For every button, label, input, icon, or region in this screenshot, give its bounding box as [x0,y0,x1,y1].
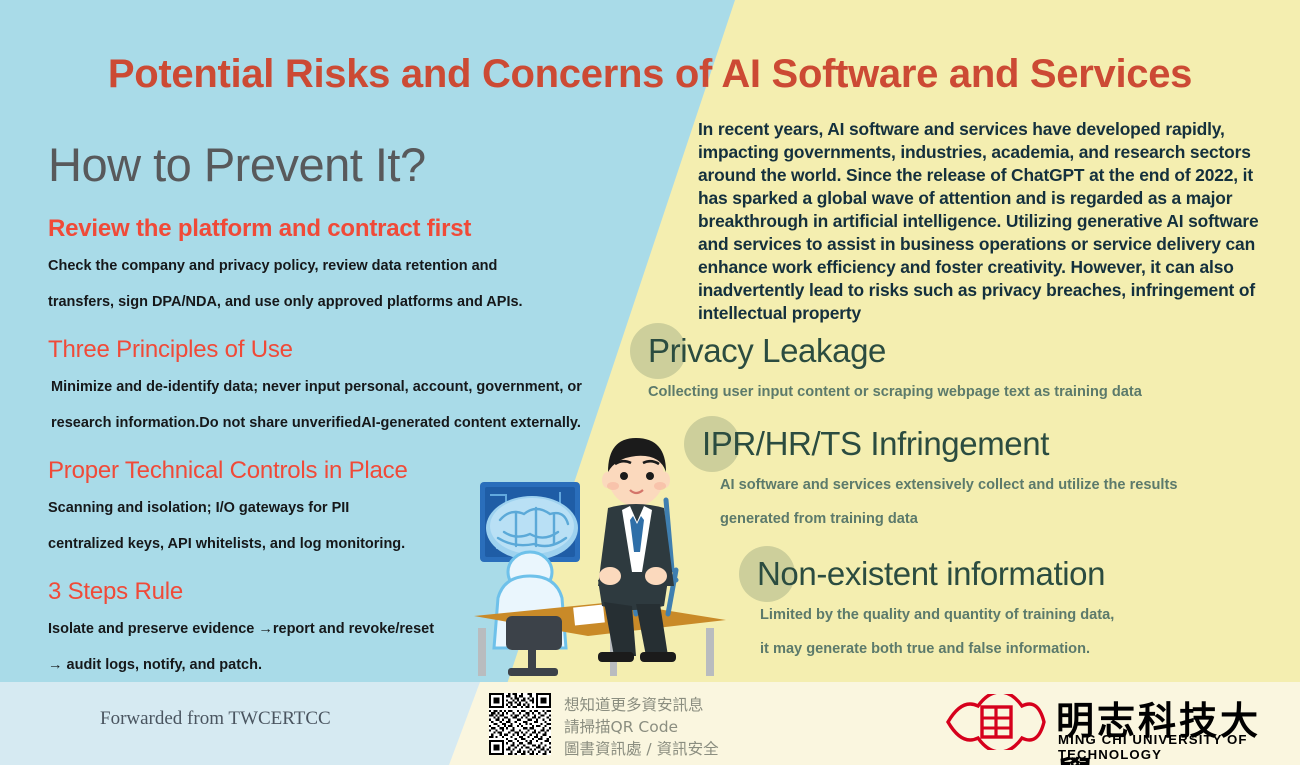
intro-paragraph: In recent years, AI software and service… [698,118,1283,325]
risk-title: Non-existent information [757,555,1105,592]
university-logo: 明志科技大學 MING CHI UNIVERSITY OF TECHNOLOGY [944,694,1284,749]
risk-description-line: generated from training data [720,503,1177,537]
ai-interview-illustration [470,420,730,685]
risk-item-non-existent-information: Non-existent information Limited by the … [757,555,1114,666]
risk-title: Privacy Leakage [648,332,886,369]
risk-item-privacy-leakage: Privacy Leakage Collecting user input co… [648,332,1142,410]
qr-caption-line: 請掃描QR Code [564,716,719,738]
risk-item-ipr-hr-ts-infringement: IPR/HR/TS Infringement AI software and s… [702,425,1177,536]
prevention-section-line: Minimize and de-identify data; never inp… [48,370,608,406]
risk-description-line: it may generate both true and false info… [760,633,1114,667]
office-chair [506,616,562,676]
risk-description: Collecting user input content or scrapin… [648,376,1142,410]
how-to-prevent-heading: How to Prevent It? [48,140,608,189]
risk-description-line: Collecting user input content or scrapin… [648,376,1142,410]
prevention-section-review: Review the platform and contract first C… [48,215,608,320]
qr-code-svg [489,693,551,755]
qr-caption-line: 圖書資訊處 / 資訊安全 [564,738,719,760]
forwarded-credit: Forwarded from TWCERTCC [100,708,331,730]
qr-code[interactable] [489,693,551,755]
prevention-section-title: Review the platform and contract first [48,215,608,243]
qr-caption: 想知道更多資安訊息 請掃描QR Code 圖書資訊處 / 資訊安全 [564,694,719,760]
logo-emblem-icon [944,694,1048,750]
logo-english-name: MING CHI UNIVERSITY OF TECHNOLOGY [1058,732,1284,762]
brain-icon [486,496,578,560]
risk-title: IPR/HR/TS Infringement [702,425,1049,462]
illustration-svg [470,420,730,685]
risk-description-line: AI software and services extensively col… [720,469,1177,503]
infographic-poster: Potential Risks and Concerns of AI Softw… [0,0,1300,765]
page-title: Potential Risks and Concerns of AI Softw… [0,52,1300,97]
risk-heading-wrap: Non-existent information [757,555,1105,593]
prevention-section-title: Three Principles of Use [48,336,608,364]
risk-heading-wrap: Privacy Leakage [648,332,886,370]
risk-description: AI software and services extensively col… [702,469,1177,536]
prevention-section-line: Check the company and privacy policy, re… [48,249,608,285]
qr-caption-line: 想知道更多資安訊息 [564,694,719,716]
risk-heading-wrap: IPR/HR/TS Infringement [702,425,1049,463]
risk-description: Limited by the quality and quantity of t… [757,599,1114,666]
risk-description-line: Limited by the quality and quantity of t… [760,599,1114,633]
prevention-section-line: transfers, sign DPA/NDA, and use only ap… [48,285,608,321]
